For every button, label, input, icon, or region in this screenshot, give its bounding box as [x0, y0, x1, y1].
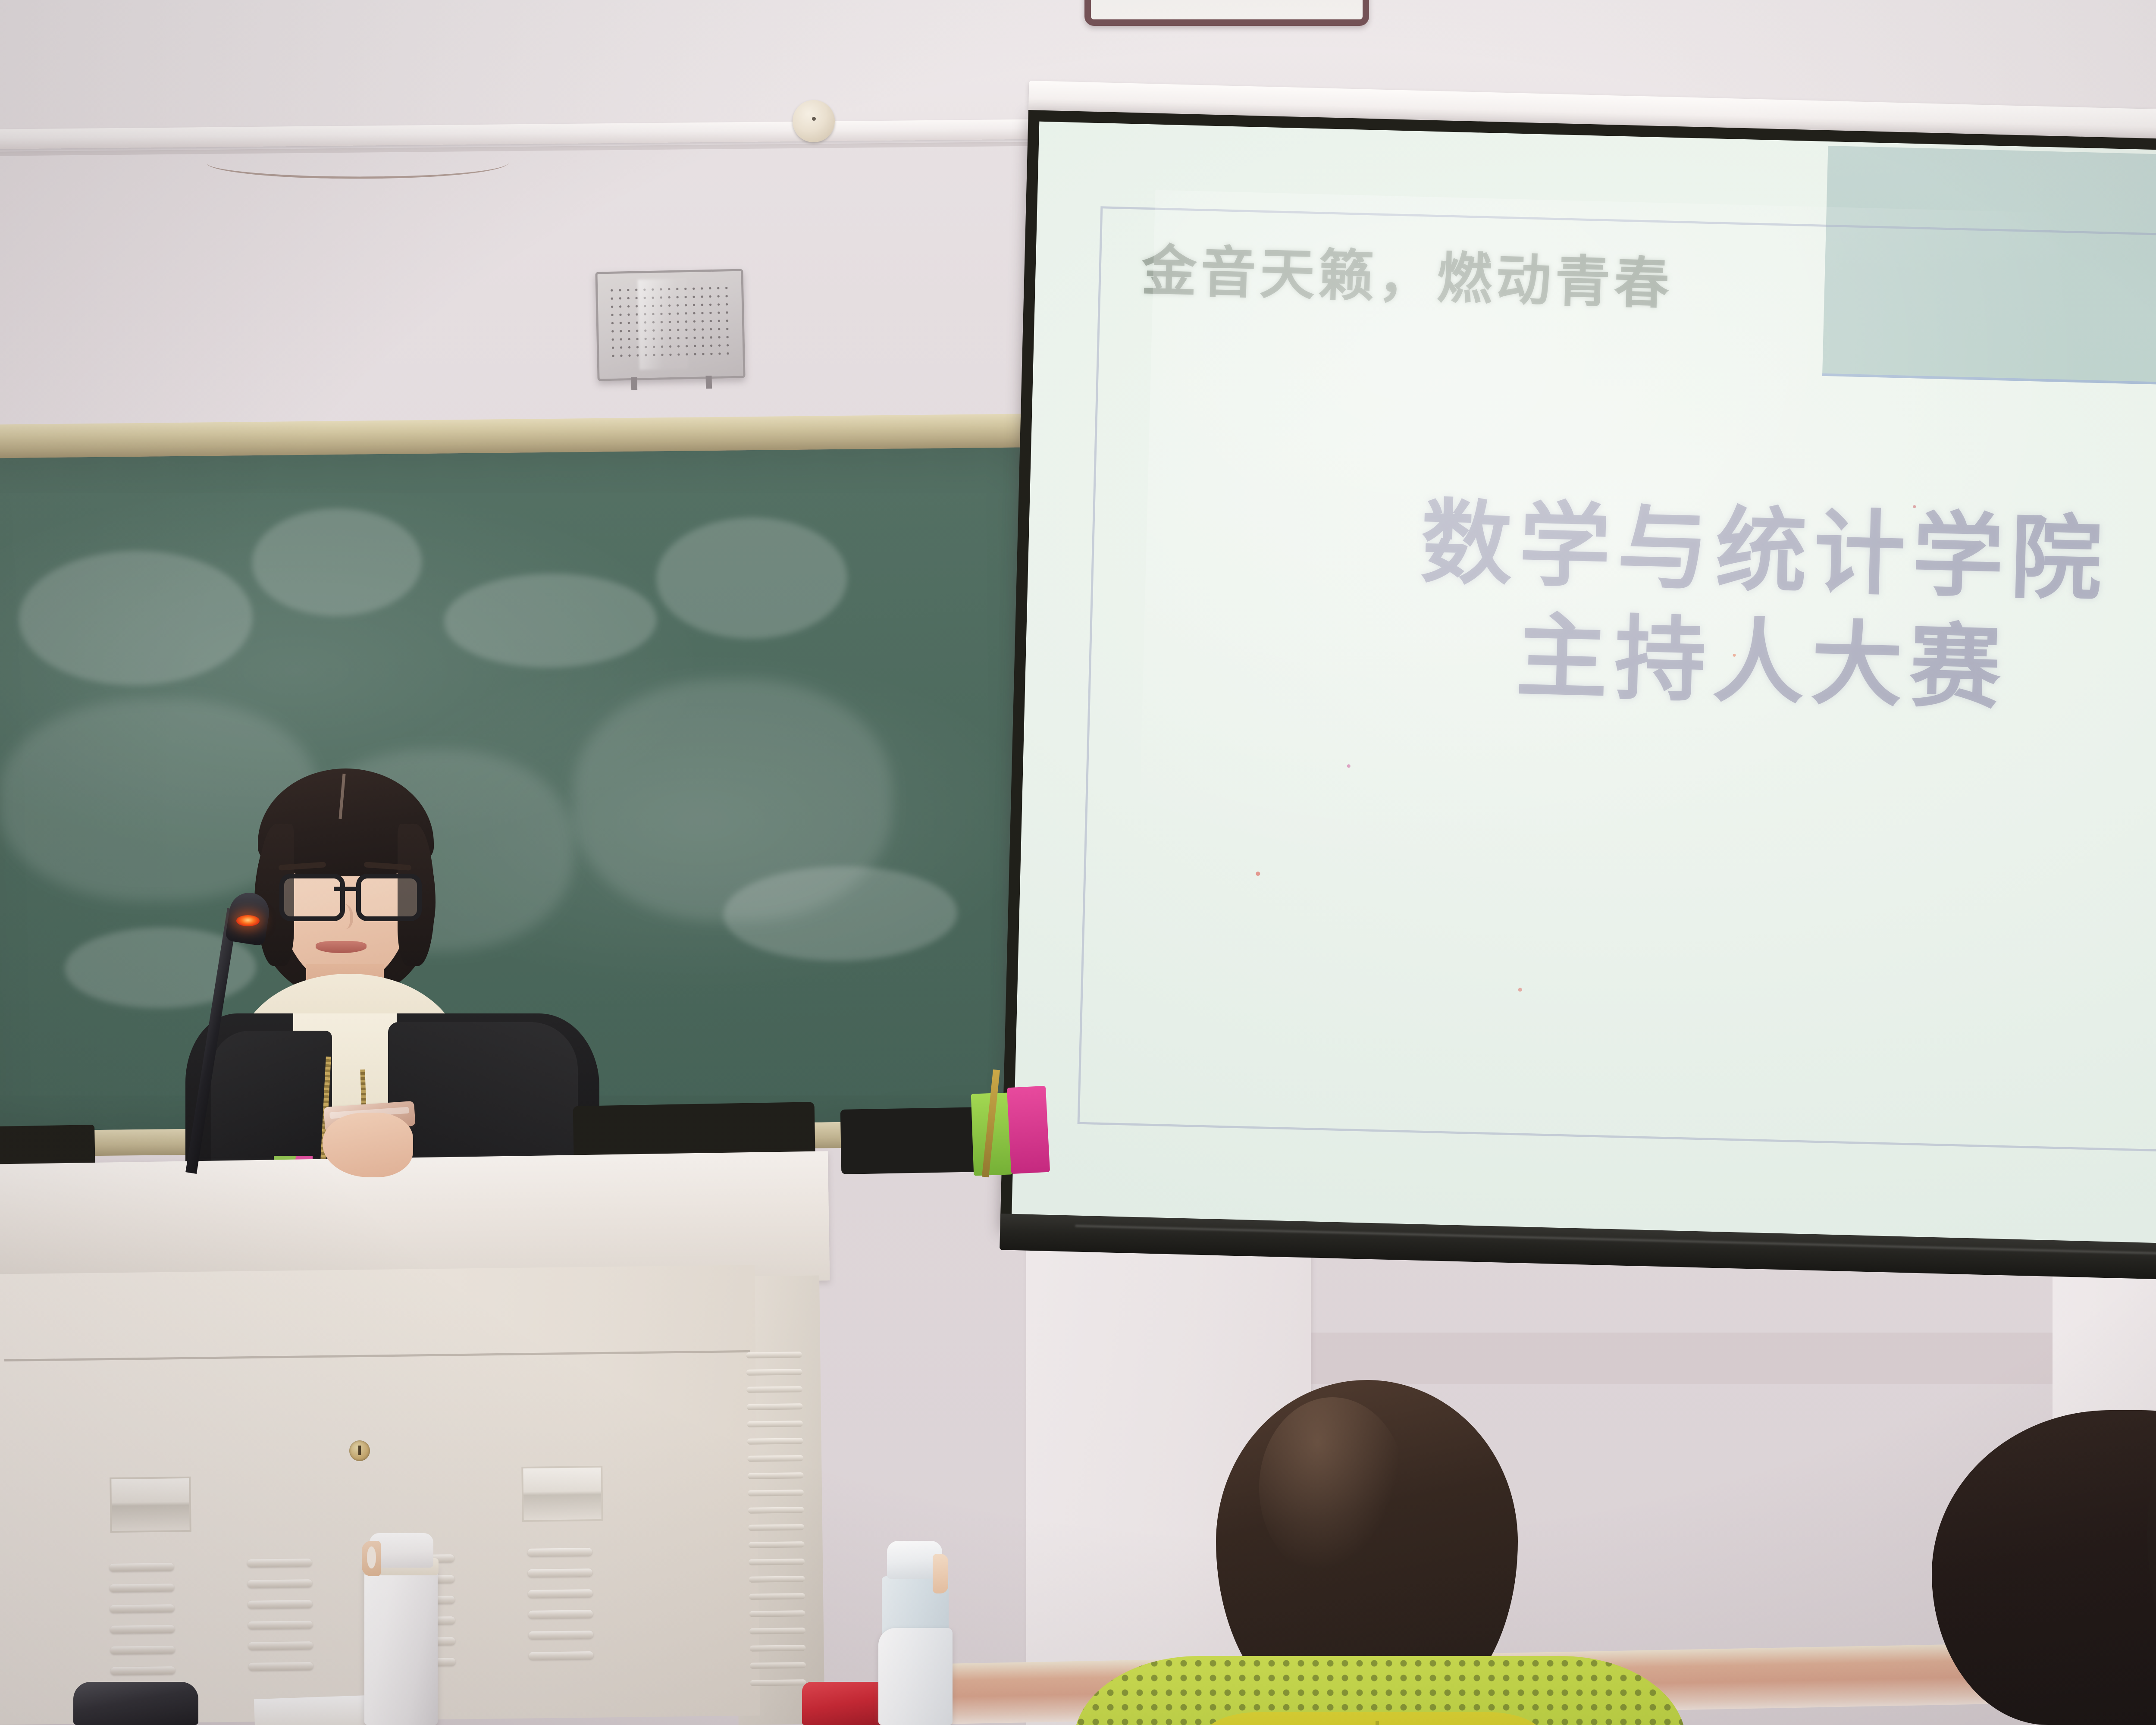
- red-bottle-cap: [802, 1682, 888, 1725]
- slide-subtitle: 金音天籁，燃动青春: [1141, 226, 1674, 319]
- audience-student-profile-glasses: [2147, 1341, 2156, 1725]
- presentation-slide: 金音天籁，燃动青春 数学与统计学院 主持人大赛: [1012, 122, 2156, 1253]
- lectern-vent-1: [109, 1563, 175, 1688]
- dark-bottle-cap: [73, 1682, 198, 1725]
- lectern-vent-2: [247, 1559, 313, 1684]
- wall-knob: [793, 100, 835, 142]
- student-hair: [2147, 1341, 2156, 1712]
- lectern-label-holder-left: [110, 1477, 191, 1533]
- audience-student-back-of-head: [1932, 1410, 2156, 1725]
- speaker-bracket-left: [631, 377, 638, 390]
- red-cap-bottle: [802, 1682, 888, 1725]
- speaker-highlight: [638, 279, 689, 370]
- lectern-label-holder-right: [521, 1466, 603, 1522]
- student-jacket-seam: [1376, 1721, 1379, 1725]
- projection-screen: 金音天籁，燃动青春 数学与统计学院 主持人大赛: [1000, 110, 2156, 1264]
- thermos-body: [364, 1563, 438, 1725]
- glass-water-bottle: [877, 1529, 953, 1725]
- microphone-indicator-icon: [236, 915, 260, 926]
- eyeglass-bridge: [334, 887, 359, 891]
- wall-mounted-speaker: [595, 269, 745, 381]
- student-hair-highlight: [1259, 1397, 1406, 1578]
- presenter-hand: [323, 1113, 413, 1177]
- lectern-vent-4: [527, 1548, 594, 1673]
- lectern-lock-icon[interactable]: [349, 1440, 370, 1461]
- student-jacket-inner: [1203, 1712, 1544, 1725]
- presenter-nose: [335, 904, 353, 929]
- podium-pink-item: [1007, 1086, 1050, 1174]
- student-hair: [1932, 1410, 2156, 1725]
- eyeglass-lens-right: [356, 874, 422, 921]
- classroom-scene: THREELEAVES 金音天籁，燃动青春 数学与统计学院 主持人大赛: [0, 0, 2156, 1725]
- slide-title-line-1: 数学与统计学院: [1420, 489, 2110, 613]
- wall-gauge: [1084, 0, 1369, 26]
- slide-title: 数学与统计学院 主持人大赛: [1025, 477, 2156, 737]
- lectern-side-vent: [746, 1352, 806, 1697]
- student-presenter: [185, 772, 599, 1182]
- presenter-mouth: [316, 941, 367, 953]
- thermos-clip: [362, 1541, 381, 1576]
- audience-student-green-jacket: [1074, 1380, 1686, 1725]
- dark-cap-bottle: [73, 1682, 198, 1725]
- white-thermos-flask: [364, 1520, 438, 1725]
- speaker-bracket-right: [706, 376, 712, 389]
- podium-object-right: [840, 1107, 984, 1174]
- projection-screen-assembly: THREELEAVES 金音天籁，燃动青春 数学与统计学院 主持人大赛: [1000, 110, 2156, 1292]
- bottle-clip: [933, 1554, 948, 1593]
- bottle-sleeve: [878, 1628, 953, 1725]
